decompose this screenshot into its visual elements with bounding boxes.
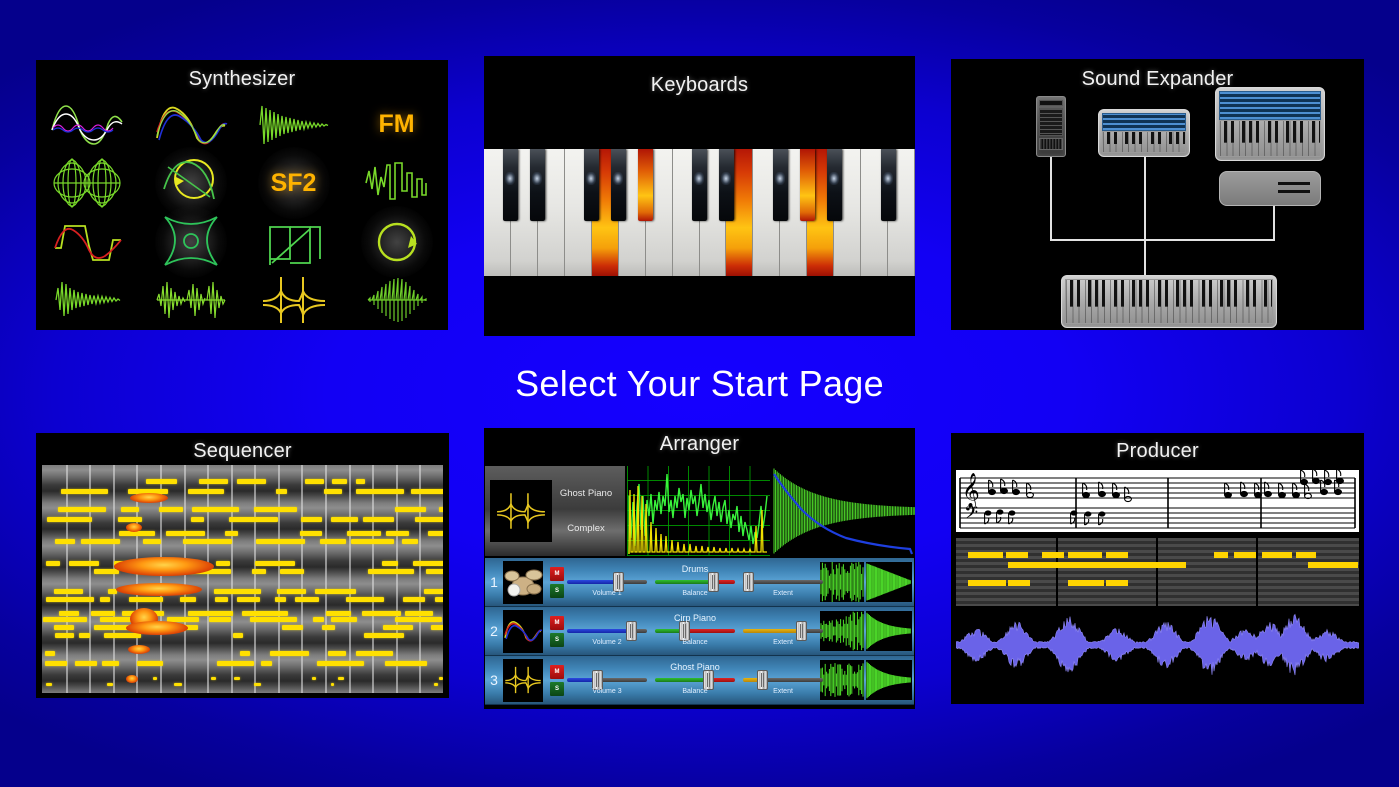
sequencer-note[interactable] (45, 661, 67, 666)
sequencer-selected-note[interactable] (116, 583, 202, 596)
sequencer-note[interactable] (277, 589, 305, 594)
sequencer-note[interactable] (143, 539, 161, 544)
track-balance-slider-label: Balance (677, 590, 713, 597)
sequencer-note[interactable] (331, 617, 357, 622)
track-extent-slider-label: Extent (765, 688, 801, 695)
track-mute-solo-group: MS (547, 567, 567, 598)
sequencer-note[interactable] (383, 625, 413, 630)
producer-barline (1056, 538, 1058, 606)
sequencer-note[interactable] (324, 489, 341, 494)
sequencer-note[interactable] (395, 507, 425, 512)
start-page-root: Synthesizer (0, 0, 1399, 787)
sequencer-note[interactable] (119, 531, 154, 536)
sequencer-note[interactable] (385, 661, 427, 666)
track-mute-button[interactable]: M (550, 665, 564, 679)
sequencer-note[interactable] (431, 625, 443, 630)
producer-note[interactable] (1042, 552, 1064, 558)
beating-waves-icon[interactable] (36, 96, 139, 153)
sound-module[interactable] (1219, 171, 1321, 206)
piano-black-key[interactable] (692, 149, 707, 221)
sequencer-note[interactable] (382, 561, 398, 566)
master-keyboard[interactable] (1061, 275, 1277, 328)
sequencer-barline (396, 465, 398, 693)
sequencer-note[interactable] (254, 683, 261, 686)
sequencer-selected-note[interactable] (126, 675, 138, 683)
sequencer-selected-note[interactable] (126, 621, 188, 635)
phase-waves-icon[interactable] (139, 96, 242, 153)
sequencer-note[interactable] (322, 625, 335, 630)
producer-barline (1256, 538, 1258, 606)
sequencer-note[interactable] (356, 489, 404, 494)
sequencer-barline (89, 465, 91, 693)
sequencer-note[interactable] (317, 661, 364, 666)
sequencer-note[interactable] (199, 479, 228, 484)
producer-note[interactable] (1008, 562, 1046, 568)
panel-title-keyboards: Keyboards (484, 74, 915, 97)
producer-note[interactable] (1106, 580, 1128, 586)
synthesizer-icon-grid: FM (36, 96, 448, 328)
track-volume-slider-label: Volume 2 (589, 639, 625, 646)
midi-keyboard-small[interactable] (1098, 109, 1190, 157)
panel-title-producer: Producer (951, 440, 1364, 463)
sequencer-note[interactable] (403, 597, 425, 602)
sequencer-note[interactable] (55, 539, 76, 544)
sequencer-note[interactable] (180, 597, 196, 602)
track-balance-slider-label: Balance (677, 639, 713, 646)
sequencer-note[interactable] (424, 589, 443, 594)
sequencer-note[interactable] (428, 531, 443, 536)
producer-note[interactable] (1068, 552, 1102, 558)
producer-note[interactable] (1106, 552, 1128, 558)
sequencer-note[interactable] (81, 539, 120, 544)
panel-arranger[interactable]: Arranger Ghost Piano Complex (484, 428, 915, 709)
panel-producer[interactable]: Producer 𝄞𝄢 (951, 433, 1364, 704)
panel-sequencer[interactable]: Sequencer (36, 433, 449, 698)
sequencer-note[interactable] (415, 517, 443, 522)
track-number: 1 (485, 574, 503, 590)
sequencer-note[interactable] (282, 625, 303, 630)
preset-instrument-name: Ghost Piano (552, 489, 620, 499)
track-volume-slider-fill (567, 580, 618, 584)
sequencer-note[interactable] (54, 625, 75, 630)
sequencer-barline (207, 465, 209, 693)
sequencer-note[interactable] (234, 677, 240, 680)
track-envelope-display (866, 611, 912, 651)
track-envelope-display (866, 660, 912, 700)
track-volume-slider-knob[interactable] (626, 621, 637, 641)
sequencer-note[interactable] (347, 531, 381, 536)
piano-black-key[interactable] (530, 149, 545, 221)
sequencer-note[interactable] (301, 517, 323, 522)
panel-sound-expander[interactable]: Sound Expander (951, 59, 1364, 330)
sequencer-selected-note[interactable] (130, 493, 168, 503)
sequencer-note[interactable] (426, 569, 443, 574)
sequencer-note[interactable] (137, 661, 163, 666)
preset-labels: Ghost Piano Complex (552, 489, 620, 533)
track-slider-area: Volume 1BalanceExtentDrums (567, 558, 820, 606)
track-extent-slider-rest (762, 678, 823, 682)
producer-note[interactable] (1068, 580, 1104, 586)
preset-variation-name: Complex (552, 524, 620, 534)
sequencer-barline (254, 465, 256, 693)
track-extent-slider-knob[interactable] (796, 621, 807, 641)
cable-rack-to-master (1050, 157, 1052, 240)
track-solo-button[interactable]: S (550, 633, 564, 647)
sequencer-note[interactable] (315, 589, 356, 594)
sequencer-note[interactable] (402, 539, 418, 544)
track-extent-slider-fill (743, 629, 801, 633)
producer-note[interactable] (968, 580, 1006, 586)
sequencer-note[interactable] (183, 539, 232, 544)
track-balance-slider-knob[interactable] (703, 670, 714, 690)
panel-title-sequencer: Sequencer (36, 440, 449, 463)
track-slider-area: Volume 2BalanceExtentCirp Piano (567, 607, 820, 655)
rack-module[interactable] (1036, 96, 1066, 157)
sequencer-note[interactable] (270, 651, 309, 656)
track-level-meter (820, 660, 864, 700)
producer-note[interactable] (1214, 552, 1228, 558)
sf2-label: SF2 (271, 169, 317, 198)
resonator-icon[interactable] (139, 213, 242, 271)
sequencer-note[interactable] (237, 479, 266, 484)
midi-keyboard-small-keys (1102, 131, 1186, 153)
track-balance-slider-fill (655, 580, 713, 584)
track-volume-slider[interactable] (567, 678, 647, 682)
page-heading: Select Your Start Page (0, 363, 1399, 405)
track-volume-slider[interactable] (567, 629, 647, 633)
track-number: 2 (485, 623, 503, 639)
sequencer-note[interactable] (45, 651, 54, 656)
track-balance-slider[interactable] (655, 580, 735, 584)
track-mute-button[interactable]: M (550, 567, 564, 581)
sequencer-barline (349, 465, 351, 693)
piano-black-key[interactable] (611, 149, 626, 221)
sequencer-note[interactable] (362, 611, 401, 616)
arranger-preset-panel[interactable]: Ghost Piano Complex (485, 466, 625, 556)
sequencer-note[interactable] (153, 677, 157, 680)
sequencer-note[interactable] (174, 683, 181, 686)
sequencer-note[interactable] (100, 597, 110, 602)
producer-note[interactable] (1008, 580, 1030, 586)
diamond-envelope-icon[interactable] (345, 271, 448, 328)
producer-note[interactable] (1262, 552, 1292, 558)
sequencer-barline (325, 465, 327, 693)
sequencer-note[interactable] (211, 677, 215, 680)
rotary-lfo-icon[interactable] (139, 153, 242, 213)
loop-arrow-icon[interactable] (345, 213, 448, 271)
sequencer-barline (301, 465, 303, 693)
sequencer-barline (231, 465, 233, 693)
panel-title-synthesizer: Synthesizer (36, 68, 448, 91)
sequencer-note[interactable] (47, 517, 92, 522)
arranger-track-row[interactable]: 3 MSVolume 3BalanceExtentGhost Piano (485, 656, 914, 705)
midi-keyboard-small-screen (1102, 113, 1186, 131)
track-volume-slider-knob[interactable] (592, 670, 603, 690)
sequencer-note[interactable] (188, 489, 224, 494)
sequencer-note[interactable] (55, 633, 74, 638)
panel-synthesizer[interactable]: Synthesizer (36, 60, 448, 330)
track-extent-slider[interactable] (743, 580, 823, 584)
damped-oscillation-icon[interactable] (242, 96, 345, 153)
track-mute-solo-group: MS (547, 616, 567, 647)
sequencer-note[interactable] (215, 597, 228, 602)
sequencer-note[interactable] (280, 569, 304, 574)
track-extent-slider-knob[interactable] (757, 670, 768, 690)
sequencer-note[interactable] (75, 661, 97, 666)
cable-module-to-bus (1273, 206, 1275, 241)
midi-keyboard-large-screen (1219, 91, 1321, 120)
piano-black-key[interactable] (719, 149, 734, 221)
sequencer-note[interactable] (328, 651, 346, 656)
track-balance-slider[interactable] (655, 678, 735, 682)
sequencer-note[interactable] (79, 633, 90, 638)
midi-keyboard-large[interactable] (1215, 87, 1325, 161)
sequencer-note[interactable] (411, 489, 443, 494)
sequencer-roll[interactable] (42, 465, 443, 693)
sequencer-note[interactable] (107, 683, 113, 686)
piano-black-key[interactable] (827, 149, 842, 221)
sequencer-note[interactable] (332, 479, 347, 484)
sequencer-note[interactable] (356, 651, 394, 656)
sequencer-note[interactable] (59, 611, 79, 616)
track-extent-slider-knob[interactable] (743, 572, 754, 592)
sequencer-note[interactable] (305, 479, 323, 484)
track-slider-area: Volume 3BalanceExtentGhost Piano (567, 656, 820, 704)
sequencer-note[interactable] (121, 507, 139, 512)
sequencer-note[interactable] (191, 517, 204, 522)
track-name: Drums (655, 564, 735, 574)
sequencer-barline (66, 465, 68, 693)
impulse-spikes-icon[interactable] (242, 271, 345, 328)
track-mute-button[interactable]: M (550, 616, 564, 630)
sequencer-note[interactable] (395, 617, 442, 622)
sequencer-note[interactable] (320, 539, 346, 544)
attack-decay-icon[interactable] (36, 271, 139, 328)
sequencer-note[interactable] (312, 677, 316, 680)
sequencer-note[interactable] (326, 611, 352, 616)
producer-piano-roll[interactable] (956, 538, 1359, 606)
sequencer-barline (372, 465, 374, 693)
track-name: Ghost Piano (655, 662, 735, 672)
arranger-header: Ghost Piano Complex (485, 466, 914, 556)
sf2-soundfont-icon[interactable]: SF2 (242, 153, 345, 213)
panel-keyboards[interactable]: Keyboards (484, 56, 915, 336)
sequencer-selected-note[interactable] (128, 645, 150, 654)
track-balance-slider-fill (655, 678, 708, 682)
sequencer-note[interactable] (256, 539, 305, 544)
track-volume-slider-knob[interactable] (613, 572, 624, 592)
track-name: Cirp Piano (655, 613, 735, 623)
sequencer-note[interactable] (250, 617, 297, 622)
sequencer-note[interactable] (129, 597, 163, 602)
sequencer-note[interactable] (275, 597, 286, 602)
sequencer-note[interactable] (351, 539, 394, 544)
track-volume-slider-fill (567, 629, 631, 633)
piano-keyboard[interactable] (484, 149, 915, 276)
track-volume-slider[interactable] (567, 580, 647, 584)
sequencer-note[interactable] (242, 611, 287, 616)
sequencer-note[interactable] (159, 507, 184, 512)
sequencer-note[interactable] (54, 589, 83, 594)
fm-synth-label: FM (378, 110, 414, 139)
arranger-track-list: 1 MSVolume 1BalanceExtentDrums2 MSVolume… (485, 558, 914, 706)
track-solo-button[interactable]: S (550, 584, 564, 598)
piano-black-key[interactable] (638, 149, 653, 221)
piano-black-key[interactable] (773, 149, 788, 221)
sequencer-note[interactable] (46, 683, 52, 686)
sequencer-note[interactable] (104, 633, 141, 638)
sequencer-note[interactable] (43, 617, 87, 622)
midi-keyboard-large-keys (1219, 120, 1321, 157)
square-noise-icon[interactable] (345, 153, 448, 213)
track-solo-button[interactable]: S (550, 682, 564, 696)
cable-bus-horizontal (1050, 239, 1275, 241)
producer-note[interactable] (1308, 562, 1358, 568)
sequencer-note[interactable] (363, 517, 394, 522)
sequencer-barline (419, 465, 421, 693)
sequencer-selected-note[interactable] (126, 523, 142, 532)
producer-note[interactable] (1046, 562, 1076, 568)
sequencer-note[interactable] (368, 569, 415, 574)
producer-waveform[interactable] (956, 612, 1359, 678)
sequencer-note[interactable] (254, 507, 296, 512)
sequencer-note[interactable] (237, 597, 260, 602)
sequencer-note[interactable] (233, 633, 243, 638)
sequencer-barline (278, 465, 280, 693)
sequencer-note[interactable] (331, 517, 359, 522)
track-level-meter (820, 611, 864, 651)
track-number: 3 (485, 672, 503, 688)
sequencer-note[interactable] (346, 597, 384, 602)
sequencer-note[interactable] (118, 517, 142, 522)
piano-black-key[interactable] (584, 149, 599, 221)
master-keyboard-keys (1065, 279, 1273, 324)
sequencer-selected-note[interactable] (114, 557, 214, 576)
piano-black-key[interactable] (503, 149, 518, 221)
track-volume-slider-label: Volume 1 (589, 590, 625, 597)
sequencer-note[interactable] (434, 683, 438, 686)
sequencer-note[interactable] (216, 561, 231, 566)
track-extent-slider[interactable] (743, 678, 823, 682)
sequencer-note[interactable] (225, 531, 238, 536)
track-extent-slider-rest (743, 580, 823, 584)
ring-modulation-icon[interactable] (36, 153, 139, 213)
sequencer-note[interactable] (192, 507, 239, 512)
track-balance-slider-knob[interactable] (708, 572, 719, 592)
track-instrument-thumbnail[interactable] (503, 610, 543, 653)
granular-burst-icon[interactable] (139, 271, 242, 328)
producer-barline (1156, 538, 1158, 606)
track-extent-slider[interactable] (743, 629, 823, 633)
sequencer-note[interactable] (214, 589, 261, 594)
sequencer-note[interactable] (276, 489, 287, 494)
piano-black-key[interactable] (800, 149, 815, 221)
sequencer-barline (184, 465, 186, 693)
sequencer-note[interactable] (435, 597, 443, 602)
producer-note[interactable] (1076, 562, 1176, 568)
track-extent-slider-label: Extent (765, 639, 801, 646)
svg-text:𝄢: 𝄢 (964, 503, 978, 528)
sequencer-note[interactable] (69, 561, 99, 566)
producer-note[interactable] (1296, 552, 1316, 558)
sequencer-note[interactable] (261, 661, 272, 666)
sequencer-note[interactable] (439, 677, 443, 680)
track-balance-slider-label: Balance (677, 688, 713, 695)
sequencer-note[interactable] (240, 651, 250, 656)
sequencer-note[interactable] (439, 507, 443, 512)
fm-synth-icon[interactable]: FM (345, 96, 448, 153)
sequencer-barline (113, 465, 115, 693)
arranger-spectrum-scope[interactable] (627, 466, 770, 556)
sequencer-note[interactable] (386, 531, 410, 536)
sequencer-note[interactable] (405, 611, 432, 616)
sequencer-note[interactable] (255, 561, 295, 566)
track-volume-slider-rest (597, 678, 647, 682)
arranger-track-row[interactable]: 2 MSVolume 2BalanceExtentCirp Piano (485, 607, 914, 656)
track-envelope-display (866, 562, 912, 602)
sequencer-note[interactable] (94, 569, 120, 574)
producer-notation-staff[interactable]: 𝄞𝄢 (956, 470, 1359, 532)
sequencer-note[interactable] (46, 597, 94, 602)
sequencer-note[interactable] (102, 661, 119, 666)
sequencer-note[interactable] (146, 479, 178, 484)
sequencer-note[interactable] (356, 479, 365, 484)
sequencer-note[interactable] (229, 517, 278, 522)
sequencer-note[interactable] (166, 531, 205, 536)
sequencer-note[interactable] (188, 611, 233, 616)
sawtooth-stack-icon[interactable] (242, 213, 345, 271)
track-volume-slider-label: Volume 3 (589, 688, 625, 695)
sequencer-note[interactable] (91, 611, 115, 616)
track-mute-solo-group: MS (547, 665, 567, 696)
track-extent-slider-label: Extent (765, 590, 801, 597)
track-balance-slider-rest (684, 629, 735, 633)
producer-note[interactable] (1006, 552, 1028, 558)
producer-note[interactable] (968, 552, 1003, 558)
producer-note[interactable] (1234, 552, 1256, 558)
sequencer-note[interactable] (313, 617, 324, 622)
sequencer-note[interactable] (61, 489, 108, 494)
sequencer-note[interactable] (252, 569, 267, 574)
track-instrument-thumbnail[interactable] (503, 561, 543, 604)
clipped-sine-icon[interactable] (36, 213, 139, 271)
track-balance-slider-knob[interactable] (679, 621, 690, 641)
sequencer-note[interactable] (413, 561, 443, 566)
arranger-decay-scope[interactable] (772, 466, 914, 556)
track-balance-slider[interactable] (655, 629, 735, 633)
arranger-track-row[interactable]: 1 MSVolume 1BalanceExtentDrums (485, 558, 914, 607)
sequencer-note[interactable] (300, 531, 322, 536)
sequencer-note[interactable] (338, 677, 344, 680)
sequencer-note[interactable] (364, 633, 403, 638)
track-level-meter (820, 562, 864, 602)
track-instrument-thumbnail[interactable] (503, 659, 543, 702)
piano-black-key[interactable] (881, 149, 896, 221)
sequencer-note[interactable] (295, 597, 320, 602)
preset-waveform-icon (490, 480, 552, 542)
sequencer-note[interactable] (58, 507, 106, 512)
panel-title-arranger: Arranger (484, 433, 915, 456)
sequencer-note[interactable] (46, 561, 60, 566)
producer-note[interactable] (1176, 562, 1186, 568)
sequencer-note[interactable] (209, 617, 231, 622)
sequencer-note[interactable] (331, 683, 334, 686)
sequencer-note[interactable] (217, 661, 254, 666)
